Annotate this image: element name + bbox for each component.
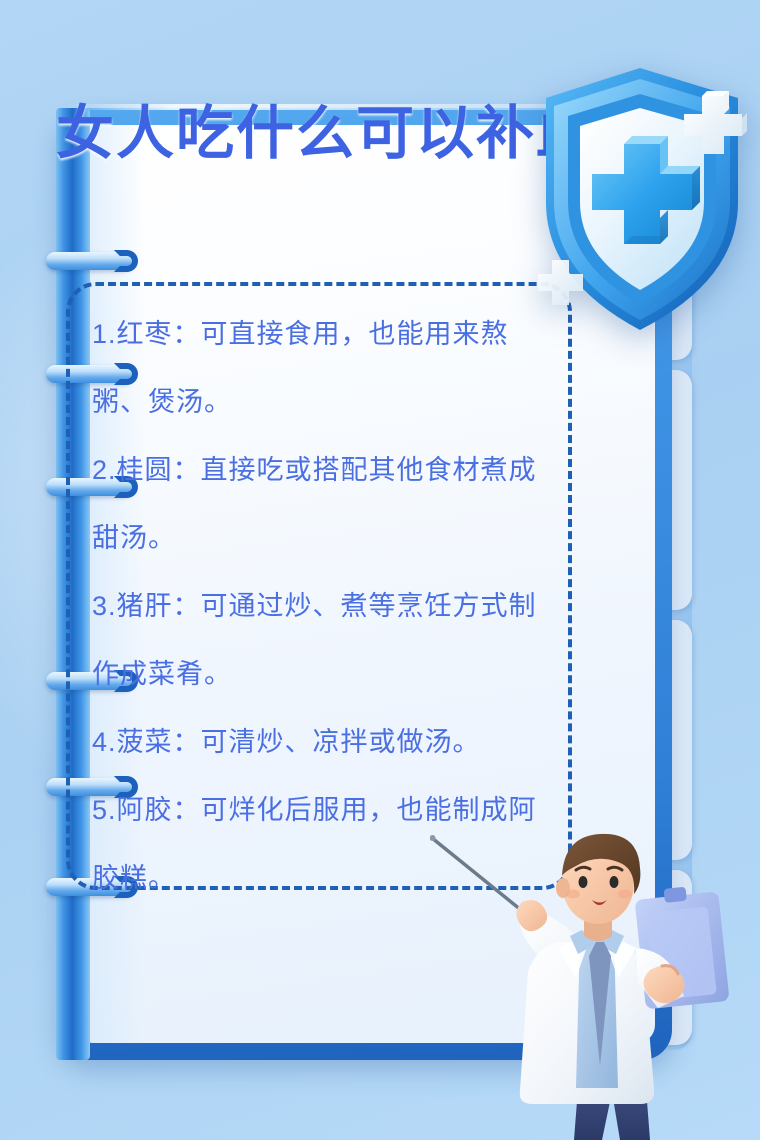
medical-shield-icon <box>528 52 760 344</box>
list-item: 2.桂圆：直接吃或搭配其他食材煮成甜汤。 <box>92 436 552 572</box>
list-item: 3.猪肝：可通过炒、煮等烹饪方式制作成菜肴。 <box>92 572 552 708</box>
poster-canvas: 女人吃什么可以补血 1.红枣：可直接食用，也能用来熬粥、煲汤。 2.桂圆：直接吃… <box>0 0 760 1140</box>
list-item: 4.菠菜：可清炒、凉拌或做汤。 <box>92 708 552 776</box>
remedy-list: 1.红枣：可直接食用，也能用来熬粥、煲汤。 2.桂圆：直接吃或搭配其他食材煮成甜… <box>92 300 552 912</box>
doctor-character-illustration <box>430 830 760 1140</box>
list-item: 1.红枣：可直接食用，也能用来熬粥、煲汤。 <box>92 300 552 436</box>
